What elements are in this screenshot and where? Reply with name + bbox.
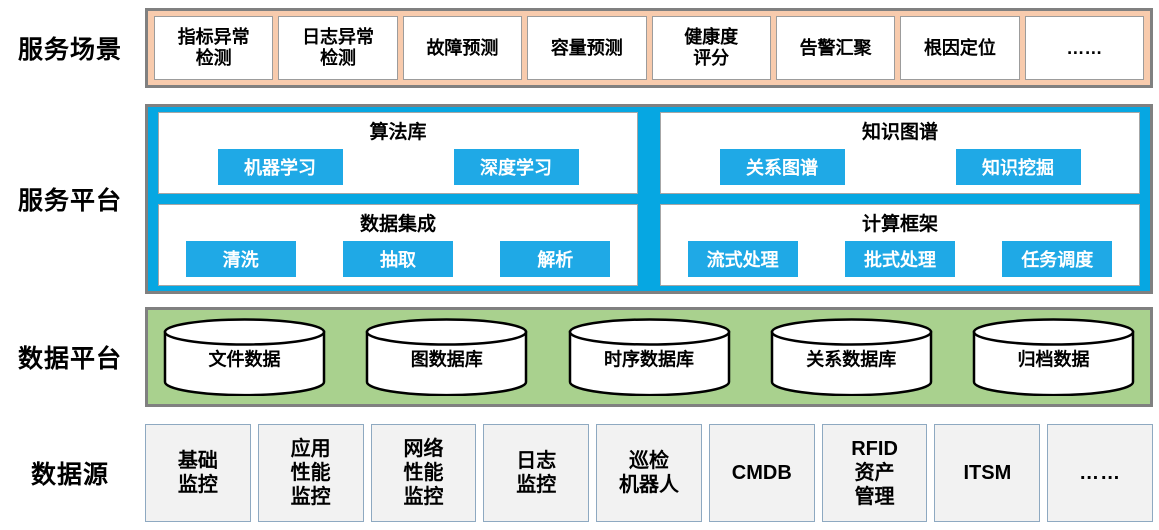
- data-source-box-line3: 监控: [403, 485, 443, 509]
- platform-chip[interactable]: 抽取: [343, 241, 453, 277]
- data-source-box-line1: RFID: [851, 437, 898, 461]
- data-source-box[interactable]: ……: [1047, 424, 1153, 522]
- data-source-box-line3: 管理: [851, 485, 898, 509]
- row-label-service-platform: 服务平台: [0, 104, 140, 294]
- data-store-cylinder[interactable]: 归档数据: [971, 318, 1136, 396]
- data-source-box[interactable]: 巡检机器人: [596, 424, 702, 522]
- service-scene-box-line2: 检测: [302, 48, 374, 69]
- data-source-box[interactable]: 网络性能监控: [371, 424, 477, 522]
- service-scene-box-line1: 日志异常: [302, 27, 374, 47]
- data-source-box-line1: 巡检: [619, 449, 679, 473]
- service-platform-band: 算法库机器学习深度学习知识图谱关系图谱知识挖掘 数据集成清洗抽取解析计算框架流式…: [145, 104, 1153, 294]
- service-scene-box-line1: 健康度: [684, 27, 738, 47]
- service-scene-box-line1: 告警汇聚: [800, 38, 872, 58]
- service-scene-box-line1: 容量预测: [551, 38, 623, 58]
- platform-chip[interactable]: 深度学习: [454, 149, 579, 185]
- service-scene-box[interactable]: 告警汇聚: [776, 16, 895, 80]
- data-source-band: 基础监控应用性能监控网络性能监控日志监控巡检机器人CMDBRFID资产管理ITS…: [145, 424, 1153, 522]
- platform-panel: 知识图谱关系图谱知识挖掘: [660, 112, 1140, 194]
- service-scene-band: 指标异常检测日志异常检测故障预测容量预测健康度评分告警汇聚根因定位……: [145, 8, 1153, 88]
- cylinder-icon: [364, 318, 529, 396]
- data-source-box-line1: CMDB: [732, 461, 792, 485]
- row-label-service-platform-text: 服务平台: [18, 181, 122, 217]
- platform-chip[interactable]: 关系图谱: [720, 149, 845, 185]
- data-source-box-line2: 监控: [516, 473, 556, 497]
- data-source-box-line2: 资产: [851, 461, 898, 485]
- data-source-box-line1: 日志: [516, 449, 556, 473]
- service-scene-box-line1: ……: [1066, 38, 1102, 58]
- data-source-box[interactable]: CMDB: [709, 424, 815, 522]
- row-label-service-scene-text: 服务场景: [18, 30, 122, 66]
- data-source-box-line1: 应用: [291, 437, 331, 461]
- data-source-box-line3: 监控: [291, 485, 331, 509]
- data-source-box-line1: ITSM: [963, 461, 1011, 485]
- cylinder-icon: [162, 318, 327, 396]
- service-scene-box[interactable]: ……: [1025, 16, 1144, 80]
- platform-row-top: 算法库机器学习深度学习知识图谱关系图谱知识挖掘: [158, 112, 1140, 194]
- row-label-data-source-text: 数据源: [31, 455, 109, 491]
- service-scene-box[interactable]: 故障预测: [403, 16, 522, 80]
- service-scene-box[interactable]: 根因定位: [900, 16, 1019, 80]
- platform-panel: 数据集成清洗抽取解析: [158, 204, 638, 286]
- platform-chip[interactable]: 清洗: [186, 241, 296, 277]
- row-label-data-platform-text: 数据平台: [18, 339, 122, 375]
- service-scene-box[interactable]: 容量预测: [527, 16, 646, 80]
- data-source-box-line1: 网络: [403, 437, 443, 461]
- platform-chip[interactable]: 知识挖掘: [956, 149, 1081, 185]
- data-source-box-line2: 性能: [291, 461, 331, 485]
- platform-chip[interactable]: 解析: [500, 241, 610, 277]
- service-scene-box-line2: 评分: [684, 48, 738, 69]
- data-source-box[interactable]: ITSM: [934, 424, 1040, 522]
- service-scene-box[interactable]: 指标异常检测: [154, 16, 273, 80]
- service-scene-box-line1: 指标异常: [178, 27, 250, 47]
- platform-panel-title: 知识图谱: [862, 117, 938, 144]
- data-store-cylinder[interactable]: 关系数据库: [769, 318, 934, 396]
- platform-chip[interactable]: 任务调度: [1002, 241, 1112, 277]
- data-store-cylinder[interactable]: 时序数据库: [567, 318, 732, 396]
- service-scene-box-line2: 检测: [178, 48, 250, 69]
- platform-panel-title: 计算框架: [862, 209, 938, 236]
- row-label-data-source: 数据源: [0, 424, 140, 522]
- data-source-box-line2: 机器人: [619, 473, 679, 497]
- platform-panel-chip-row: 清洗抽取解析: [167, 241, 629, 277]
- platform-panel: 算法库机器学习深度学习: [158, 112, 638, 194]
- platform-panel-title: 数据集成: [360, 209, 436, 236]
- data-source-box[interactable]: 应用性能监控: [258, 424, 364, 522]
- data-store-cylinder[interactable]: 图数据库: [364, 318, 529, 396]
- data-source-box-line2: 监控: [178, 473, 218, 497]
- data-source-box[interactable]: 基础监控: [145, 424, 251, 522]
- platform-panel-chip-row: 关系图谱知识挖掘: [669, 149, 1131, 185]
- data-source-box-line1: ……: [1079, 461, 1121, 485]
- platform-chip[interactable]: 流式处理: [688, 241, 798, 277]
- platform-chip[interactable]: 批式处理: [845, 241, 955, 277]
- platform-panel-title: 算法库: [369, 117, 426, 144]
- platform-panel-chip-row: 机器学习深度学习: [167, 149, 629, 185]
- data-source-box-line2: 性能: [403, 461, 443, 485]
- data-source-box-line1: 基础: [178, 449, 218, 473]
- platform-panel-chip-row: 流式处理批式处理任务调度: [669, 241, 1131, 277]
- row-label-service-scene: 服务场景: [0, 8, 140, 88]
- cylinder-icon: [769, 318, 934, 396]
- row-label-data-platform: 数据平台: [0, 307, 140, 407]
- platform-panel: 计算框架流式处理批式处理任务调度: [660, 204, 1140, 286]
- service-scene-box-line1: 根因定位: [924, 38, 996, 58]
- cylinder-icon: [971, 318, 1136, 396]
- platform-row-bottom: 数据集成清洗抽取解析计算框架流式处理批式处理任务调度: [158, 204, 1140, 286]
- data-platform-band: 文件数据图数据库时序数据库关系数据库归档数据: [145, 307, 1153, 407]
- data-source-box[interactable]: 日志监控: [483, 424, 589, 522]
- service-scene-box[interactable]: 日志异常检测: [278, 16, 397, 80]
- cylinder-icon: [567, 318, 732, 396]
- data-store-cylinder[interactable]: 文件数据: [162, 318, 327, 396]
- service-scene-box[interactable]: 健康度评分: [652, 16, 771, 80]
- service-scene-box-line1: 故障预测: [426, 38, 498, 58]
- data-source-box[interactable]: RFID资产管理: [822, 424, 928, 522]
- platform-chip[interactable]: 机器学习: [218, 149, 343, 185]
- architecture-diagram: 服务场景 服务平台 数据平台 数据源 指标异常检测日志异常检测故障预测容量预测健…: [0, 0, 1159, 530]
